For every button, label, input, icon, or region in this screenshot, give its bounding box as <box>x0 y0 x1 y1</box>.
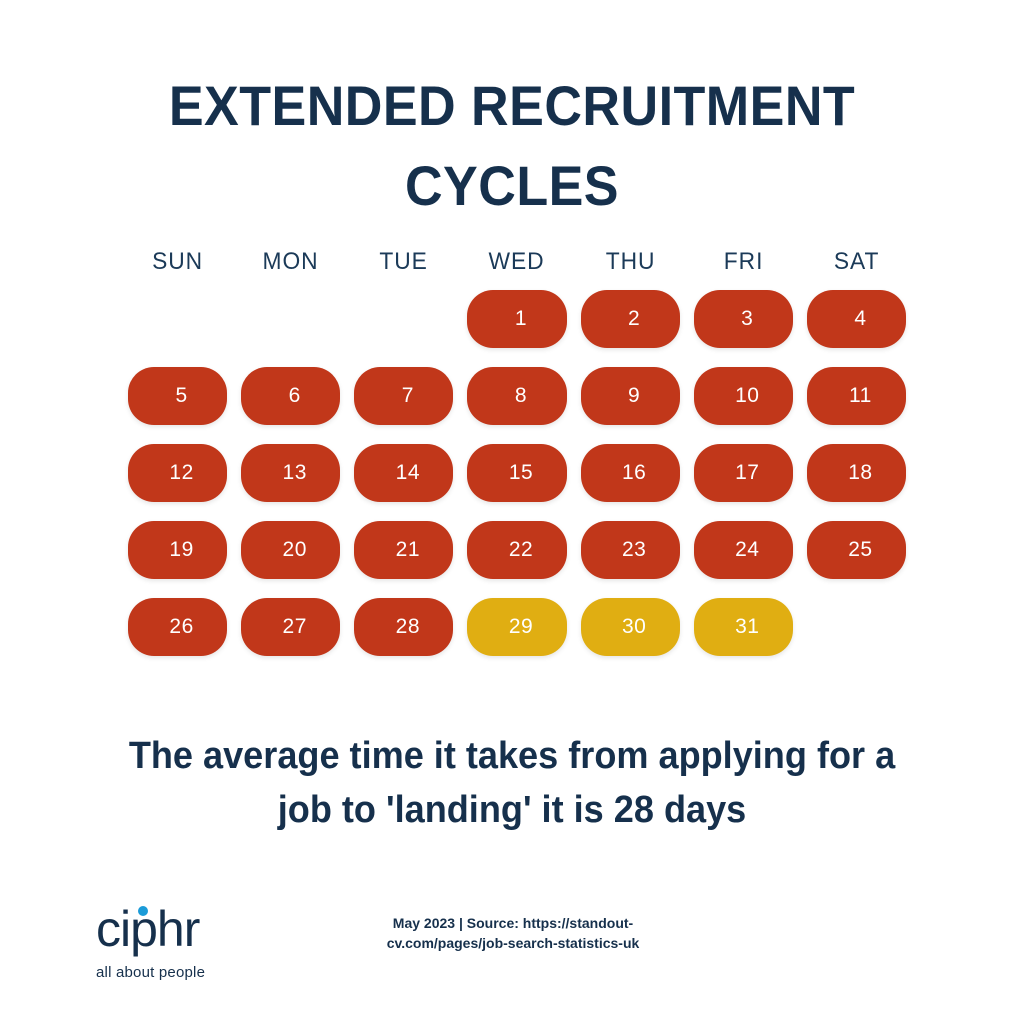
calendar-day-number: 12 <box>169 461 193 485</box>
infographic-canvas: EXTENDED RECRUITMENT CYCLES SUNMONTUEWED… <box>0 0 1024 1024</box>
calendar-day-10[interactable]: 10 <box>694 367 793 425</box>
calendar-day-number: 10 <box>735 384 759 408</box>
calendar-day-28[interactable]: 28 <box>354 598 453 656</box>
calendar-day-1[interactable]: 1 <box>467 290 566 348</box>
calendar-day-7[interactable]: 7 <box>354 367 453 425</box>
calendar-day-number: 13 <box>283 461 307 485</box>
calendar-day-8[interactable]: 8 <box>467 367 566 425</box>
calendar-day-12[interactable]: 12 <box>128 444 227 502</box>
source-attribution: May 2023 | Source: https://standout-cv.c… <box>378 914 648 954</box>
calendar-day-26[interactable]: 26 <box>128 598 227 656</box>
calendar-weekday-sun: SUN <box>130 240 224 284</box>
calendar-day-number: 4 <box>854 307 866 331</box>
calendar-day-number: 28 <box>396 615 420 639</box>
caption-text: The average time it takes from applying … <box>26 730 999 838</box>
calendar-weekday-sat: SAT <box>809 240 903 284</box>
calendar-day-number: 8 <box>515 384 527 408</box>
calendar-weekday-mon: MON <box>244 240 338 284</box>
calendar-day-blank <box>354 290 453 348</box>
calendar-day-number: 18 <box>848 461 872 485</box>
calendar-day-blank <box>128 290 227 348</box>
calendar-day-14[interactable]: 14 <box>354 444 453 502</box>
calendar-day-16[interactable]: 16 <box>581 444 680 502</box>
page-title-line-2: CYCLES <box>36 146 988 226</box>
calendar-day-18[interactable]: 18 <box>807 444 906 502</box>
calendar-day-number: 1 <box>515 307 527 331</box>
calendar-day-number: 31 <box>735 615 759 639</box>
page-title: EXTENDED RECRUITMENT CYCLES <box>0 66 1024 225</box>
calendar-weekday-header: SUNMONTUEWEDTHUFRISAT <box>128 240 906 284</box>
calendar-weekday-wed: WED <box>470 240 564 284</box>
calendar-weekday-thu: THU <box>583 240 677 284</box>
calendar-day-5[interactable]: 5 <box>128 367 227 425</box>
calendar-day-11[interactable]: 11 <box>807 367 906 425</box>
calendar-day-24[interactable]: 24 <box>694 521 793 579</box>
calendar-day-number: 25 <box>848 538 872 562</box>
calendar-day-number: 14 <box>396 461 420 485</box>
calendar-grid: SUNMONTUEWEDTHUFRISAT 123456789101112131… <box>128 240 906 656</box>
calendar-day-number: 7 <box>402 384 414 408</box>
calendar-days: 1234567891011121314151617181920212223242… <box>128 290 906 656</box>
calendar-day-31[interactable]: 31 <box>694 598 793 656</box>
calendar-day-number: 26 <box>169 615 193 639</box>
calendar-weekday-fri: FRI <box>696 240 790 284</box>
logo-tagline: all about people <box>96 964 326 981</box>
calendar-day-9[interactable]: 9 <box>581 367 680 425</box>
calendar-day-blank <box>241 290 340 348</box>
calendar-day-number: 3 <box>741 307 753 331</box>
calendar-day-22[interactable]: 22 <box>467 521 566 579</box>
calendar-day-30[interactable]: 30 <box>581 598 680 656</box>
calendar-day-15[interactable]: 15 <box>467 444 566 502</box>
calendar-day-number: 23 <box>622 538 646 562</box>
page-title-line-1: EXTENDED RECRUITMENT <box>36 66 988 146</box>
calendar-day-number: 11 <box>849 384 872 408</box>
calendar-day-number: 29 <box>509 615 533 639</box>
calendar-day-20[interactable]: 20 <box>241 521 340 579</box>
calendar-weekday-tue: TUE <box>357 240 451 284</box>
calendar-day-number: 24 <box>735 538 759 562</box>
calendar-day-number: 20 <box>283 538 307 562</box>
calendar-day-number: 22 <box>509 538 533 562</box>
calendar-day-number: 19 <box>169 538 193 562</box>
calendar-day-3[interactable]: 3 <box>694 290 793 348</box>
calendar-day-number: 27 <box>283 615 307 639</box>
calendar-day-4[interactable]: 4 <box>807 290 906 348</box>
calendar-day-number: 9 <box>628 384 640 408</box>
calendar-day-17[interactable]: 17 <box>694 444 793 502</box>
ciphr-logo: ciphr all about people <box>96 904 326 981</box>
logo-dot-icon <box>138 906 148 916</box>
calendar-day-number: 16 <box>622 461 646 485</box>
calendar-day-number: 21 <box>396 538 420 562</box>
calendar-day-number: 15 <box>509 461 533 485</box>
footer: ciphr all about people May 2023 | Source… <box>0 896 1024 1006</box>
calendar-day-19[interactable]: 19 <box>128 521 227 579</box>
logo-wordmark: ciphr <box>96 904 326 954</box>
calendar-day-number: 17 <box>735 461 759 485</box>
calendar-day-27[interactable]: 27 <box>241 598 340 656</box>
calendar-day-number: 30 <box>622 615 646 639</box>
calendar-day-6[interactable]: 6 <box>241 367 340 425</box>
calendar-day-13[interactable]: 13 <box>241 444 340 502</box>
calendar-day-2[interactable]: 2 <box>581 290 680 348</box>
calendar-day-25[interactable]: 25 <box>807 521 906 579</box>
calendar-day-23[interactable]: 23 <box>581 521 680 579</box>
calendar-day-21[interactable]: 21 <box>354 521 453 579</box>
calendar-day-number: 2 <box>628 307 640 331</box>
calendar-day-number: 5 <box>175 384 187 408</box>
calendar-day-number: 6 <box>289 384 301 408</box>
calendar-day-29[interactable]: 29 <box>467 598 566 656</box>
